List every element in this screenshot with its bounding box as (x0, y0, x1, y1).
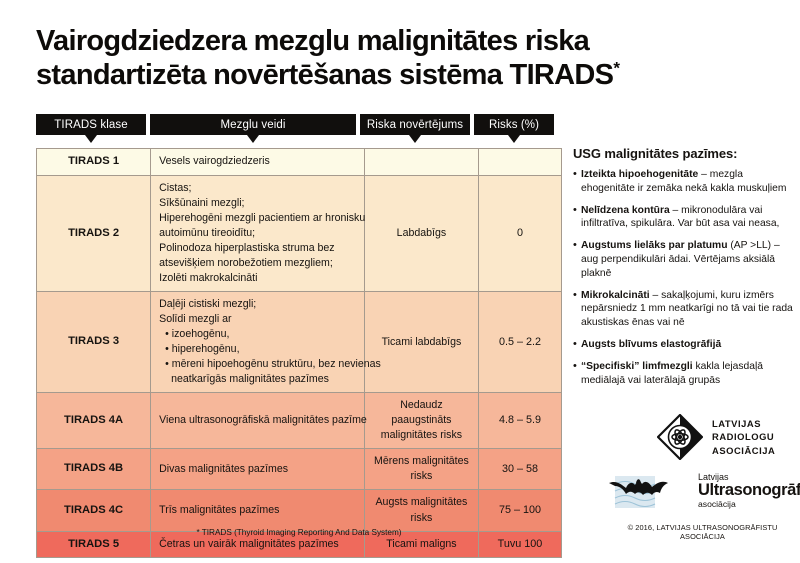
cell-riska: Augsts malignitātes risks (364, 490, 478, 531)
cell-riska: Nedaudz paaugstināts malignitātes risks (364, 393, 478, 449)
bullet-term: Izteikta hipoehogenitāte (581, 169, 698, 180)
pointer-triangle-icon (409, 135, 421, 143)
bullet-text: “Specifiski” limfmezgli kakla lejasdaļā … (581, 360, 795, 388)
table-row: TIRADS 3 Daļēji cistiski mezgli;Solīdi m… (37, 292, 562, 393)
logo-latvijas-radiologu-asociacija: LATVIJAS RADIOLOGU ASOCIĀCIJA (657, 414, 800, 460)
panel-bullet-item: •Nelīdzena kontūra – mikronodulāra vai i… (573, 204, 795, 232)
tirads-table: TIRADS klase Mezglu veidi Riska novērtēj… (36, 114, 562, 558)
cell-text-line: Četras un vairāk malignitātes pazīmes (159, 537, 356, 552)
cell-text-line: neatkarīgās malignitātes pazīmes (159, 372, 356, 387)
bullet-dot-icon: • (573, 168, 581, 196)
cell-veidi: Cistas;Sīkšūnaini mezgli;Hiperehogēni me… (151, 175, 365, 291)
pointer-triangle-icon (247, 135, 259, 143)
table-header-row: TIRADS klase Mezglu veidi Riska novērtēj… (36, 114, 562, 135)
table-row: TIRADS 2 Cistas;Sīkšūnaini mezgli;Hipere… (37, 175, 562, 291)
cell-riska: Mērens malignitātes risks (364, 449, 478, 490)
cell-risks: 0.5 – 2.2 (478, 292, 561, 393)
cell-text-line: Polinodoza hiperplastiska struma bez (159, 241, 356, 256)
column-header-tirads-klase: TIRADS klase (36, 114, 146, 135)
panel-bullet-item: •Mikrokalcināti – sakaļķojumi, kuru izmē… (573, 289, 795, 330)
cell-klase: TIRADS 3 (37, 292, 151, 393)
radiologu-line3: ASOCIĀCIJA (712, 445, 775, 456)
bullet-term: “Specifiski” limfmezgli (581, 361, 693, 372)
cell-text-line: Cistas; (159, 181, 356, 196)
bullet-dot-icon: • (573, 360, 581, 388)
radiologu-line2: RADIOLOGU (712, 431, 774, 442)
cell-riska: Ticami labdabīgs (364, 292, 478, 393)
table-row: TIRADS 4A Viena ultrasonogrāfiskā malign… (37, 393, 562, 449)
cell-text-line: Daļēji cistiski mezgli; (159, 297, 356, 312)
cell-text-line: Hiperehogēni mezgli pacientiem ar hronis… (159, 211, 356, 226)
panel-bullet-item: •Izteikta hipoehogenitāte – mezgla ehoge… (573, 168, 795, 196)
bullet-term: Augsts blīvums elastogrāfijā (581, 339, 721, 350)
bullet-term: Nelīdzena kontūra (581, 205, 670, 216)
cell-klase: TIRADS 4A (37, 393, 151, 449)
bat-ultrasound-icon (607, 470, 691, 512)
radiologu-line1: LATVIJAS (712, 418, 761, 429)
copyright-text: © 2016, LATVIJAS ULTRASONOGRĀFISTU ASOCI… (605, 523, 800, 541)
cell-risks (478, 149, 561, 176)
cell-veidi: Vesels vairogdziedzeris (151, 149, 365, 176)
panel-bullet-item: •Augstums lielāks par platumu (AP >LL) –… (573, 239, 795, 280)
panel-heading: USG malignitātes pazīmes: (573, 146, 795, 161)
cell-text-line: autoimūnu tireoidītu; (159, 226, 356, 241)
page-title: Vairogdziedzera mezglu malignitātes risk… (36, 24, 736, 92)
pointer-triangle-icon (85, 135, 97, 143)
cell-text-line: Trīs malignitātes pazīmes (159, 503, 356, 518)
cell-text-line: • mēreni hipoehogēnu struktūru, bez nevi… (159, 357, 356, 372)
ultrasonografistu-logo-text: Latvijas Ultrasonogrāfistu asociācija (698, 473, 800, 509)
cell-klase: TIRADS 4C (37, 490, 151, 531)
cell-text-line: Viena ultrasonogrāfiskā malignitātes paz… (159, 413, 356, 428)
column-header-label: Risks (%) (489, 119, 539, 131)
column-header-label: TIRADS klase (54, 119, 127, 131)
cell-text-line: Vesels vairogdziedzeris (159, 154, 356, 169)
table-row: TIRADS 4C Trīs malignitātes pazīmes Augs… (37, 490, 562, 531)
column-header-mezglu-veidi: Mezglu veidi (150, 114, 356, 135)
cell-risks: 4.8 – 5.9 (478, 393, 561, 449)
tirads-grid: TIRADS 1 Vesels vairogdziedzeris TIRADS … (36, 148, 562, 558)
table-footnote: * TIRADS (Thyroid Imaging Reporting And … (36, 528, 562, 537)
title-asterisk: * (613, 59, 619, 78)
bullet-text: Augsts blīvums elastogrāfijā (581, 338, 795, 352)
bullet-dot-icon: • (573, 338, 581, 352)
cell-veidi: Daļēji cistiski mezgli;Solīdi mezgli ar•… (151, 292, 365, 393)
table-row: TIRADS 4B Divas malignitātes pazīmes Mēr… (37, 449, 562, 490)
cell-veidi: Divas malignitātes pazīmes (151, 449, 365, 490)
usg-signs-panel: USG malignitātes pazīmes: •Izteikta hipo… (573, 146, 795, 395)
cell-klase: TIRADS 2 (37, 175, 151, 291)
cell-text-line: Divas malignitātes pazīmes (159, 462, 356, 477)
cell-text-line: • hiperehogēnu, (159, 342, 356, 357)
cell-text-line: Sīkšūnaini mezgli; (159, 196, 356, 211)
cell-riska (364, 149, 478, 176)
page-title-line2: standartizēta novērtēšanas sistēma TIRAD… (36, 59, 613, 91)
column-header-label: Riska novērtējums (367, 119, 463, 131)
cell-risks: 30 – 58 (478, 449, 561, 490)
cell-text-line: Solīdi mezgli ar (159, 312, 356, 327)
cell-risks: 75 – 100 (478, 490, 561, 531)
cell-veidi: Viena ultrasonogrāfiskā malignitātes paz… (151, 393, 365, 449)
cell-text-line: Izolēti makrokalcināti (159, 271, 356, 286)
bullet-term: Mikrokalcināti (581, 290, 650, 301)
column-header-risks: Risks (%) (474, 114, 554, 135)
panel-bullet-item: •“Specifiski” limfmezgli kakla lejasdaļā… (573, 360, 795, 388)
bullet-dot-icon: • (573, 239, 581, 280)
cell-klase: TIRADS 1 (37, 149, 151, 176)
cell-text-line: • izoehogēnu, (159, 327, 356, 342)
logo-block: LATVIJAS RADIOLOGU ASOCIĀCIJA Latvijas (605, 414, 800, 541)
bullet-dot-icon: • (573, 204, 581, 232)
cell-text-line: atsevišķiem norobežotiem mezgliem; (159, 256, 356, 271)
bullet-dot-icon: • (573, 289, 581, 330)
cell-veidi: Trīs malignitātes pazīmes (151, 490, 365, 531)
radiologu-logo-text: LATVIJAS RADIOLOGU ASOCIĀCIJA (712, 417, 775, 458)
pointer-triangle-icon (508, 135, 520, 143)
bullet-text: Izteikta hipoehogenitāte – mezgla ehogen… (581, 168, 795, 196)
bullet-term: Augstums lielāks par platumu (581, 240, 727, 251)
cell-risks: 0 (478, 175, 561, 291)
panel-bullet-list: •Izteikta hipoehogenitāte – mezgla ehoge… (573, 168, 795, 387)
radiology-diamond-icon (657, 414, 703, 460)
bullet-text: Augstums lielāks par platumu (AP >LL) – … (581, 239, 795, 280)
logo-latvijas-ultrasonografistu-asociacija: Latvijas Ultrasonogrāfistu asociācija (607, 470, 800, 512)
bullet-text: Mikrokalcināti – sakaļķojumi, kuru izmēr… (581, 289, 795, 330)
page-title-line1: Vairogdziedzera mezglu malignitātes risk… (36, 25, 589, 57)
ultra-line3: asociācija (698, 500, 800, 509)
cell-klase: TIRADS 4B (37, 449, 151, 490)
panel-bullet-item: •Augsts blīvums elastogrāfijā (573, 338, 795, 352)
table-row: TIRADS 1 Vesels vairogdziedzeris (37, 149, 562, 176)
ultra-line2: Ultrasonogrāfistu (698, 482, 800, 499)
column-header-label: Mezglu veidi (220, 119, 285, 131)
cell-riska: Labdabīgs (364, 175, 478, 291)
column-header-riska-novertejums: Riska novērtējums (360, 114, 470, 135)
bullet-text: Nelīdzena kontūra – mikronodulāra vai in… (581, 204, 795, 232)
